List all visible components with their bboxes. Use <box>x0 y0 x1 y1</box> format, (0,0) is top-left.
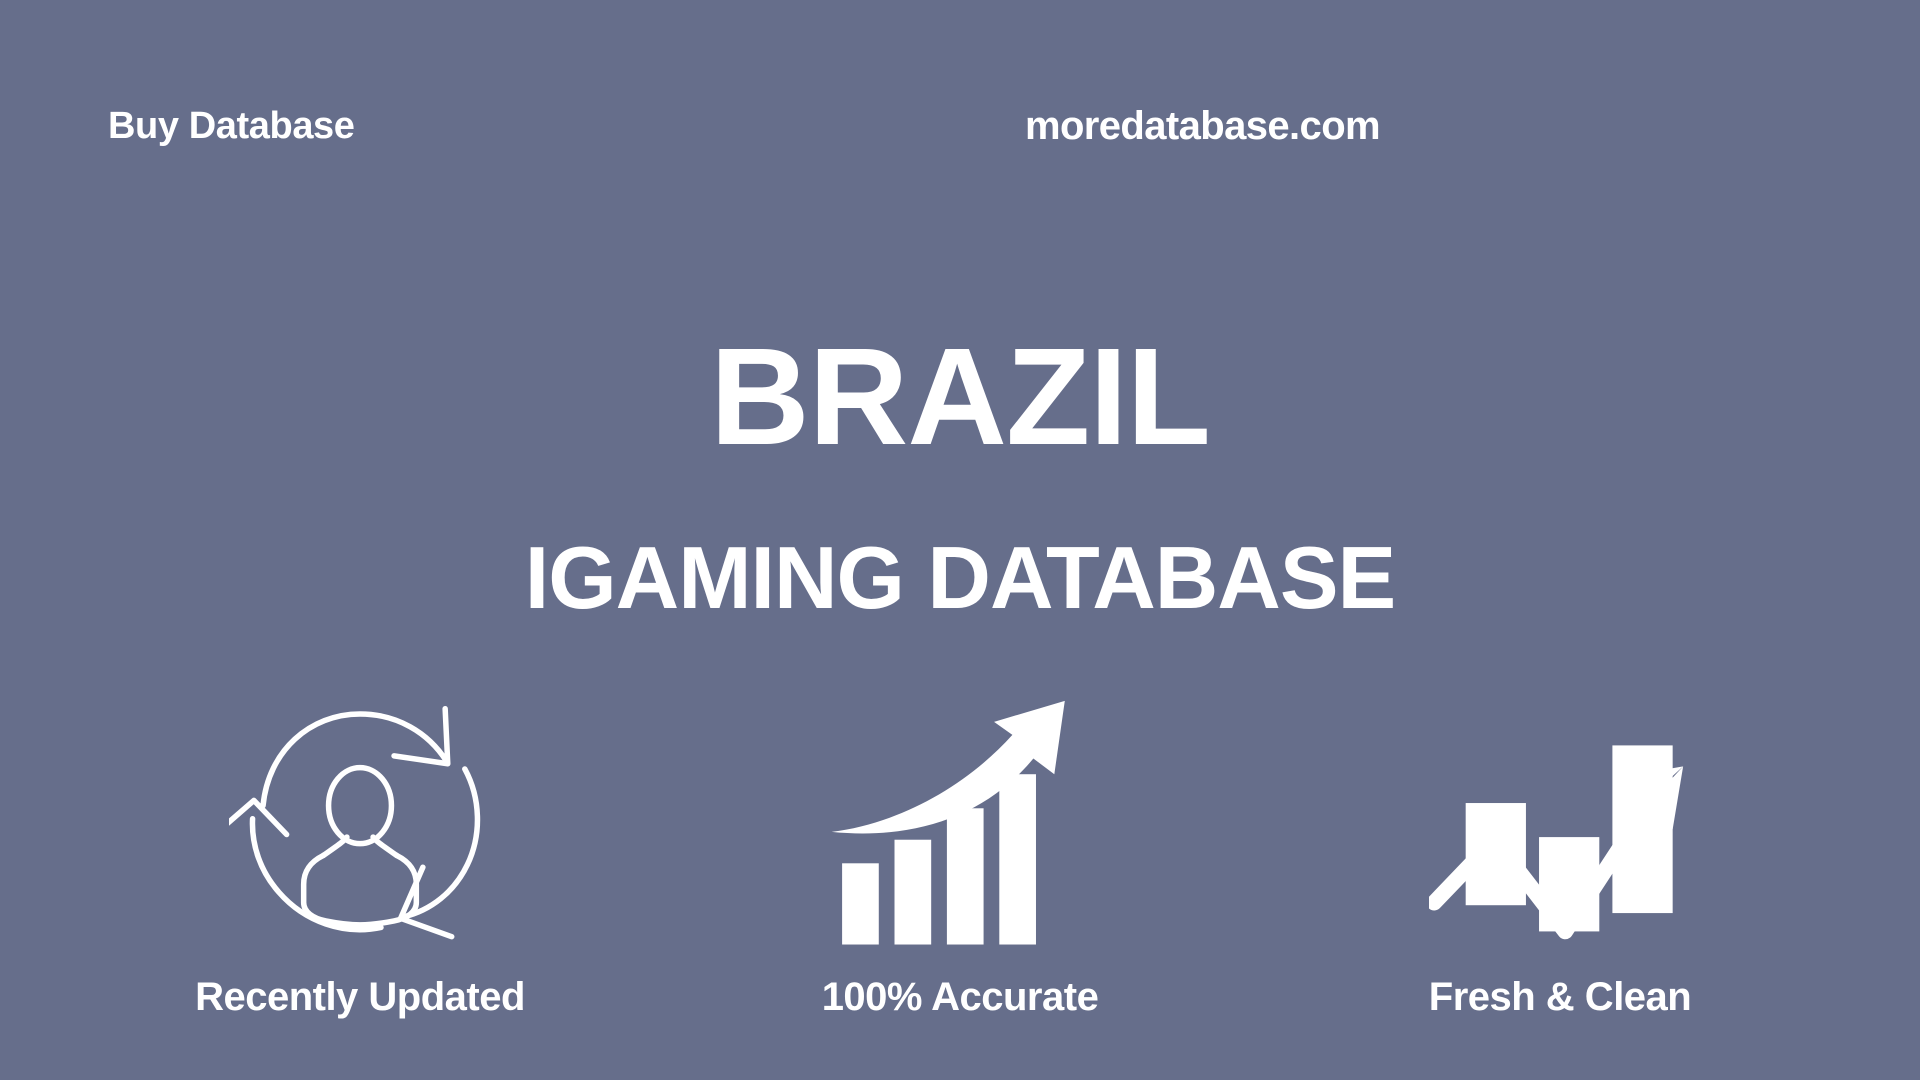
page-title: BRAZIL <box>0 328 1920 466</box>
feature-label-accurate: 100% Accurate <box>822 977 1099 1017</box>
promo-banner: Buy Database moredatabase.com BRAZIL IGA… <box>0 0 1920 1080</box>
feature-item-recently-updated: Recently Updated <box>150 685 570 1017</box>
feature-label-fresh-clean: Fresh & Clean <box>1429 977 1691 1017</box>
brand-left-label: Buy Database <box>108 107 355 145</box>
feature-label-recently-updated: Recently Updated <box>195 977 525 1017</box>
bar-chart-trend-line-arrow-icon <box>1429 685 1691 955</box>
feature-item-accurate: 100% Accurate <box>750 685 1170 1017</box>
website-url-label: moredatabase.com <box>1025 106 1380 146</box>
growth-bar-chart-arrow-icon <box>829 685 1091 955</box>
page-subtitle: IGAMING DATABASE <box>0 534 1920 622</box>
hero-title-block: BRAZIL IGAMING DATABASE <box>0 328 1920 622</box>
feature-item-fresh-clean: Fresh & Clean <box>1350 685 1770 1017</box>
person-refresh-cycle-icon <box>229 685 491 955</box>
feature-row: Recently Updated 100% Accurate <box>0 685 1920 1017</box>
